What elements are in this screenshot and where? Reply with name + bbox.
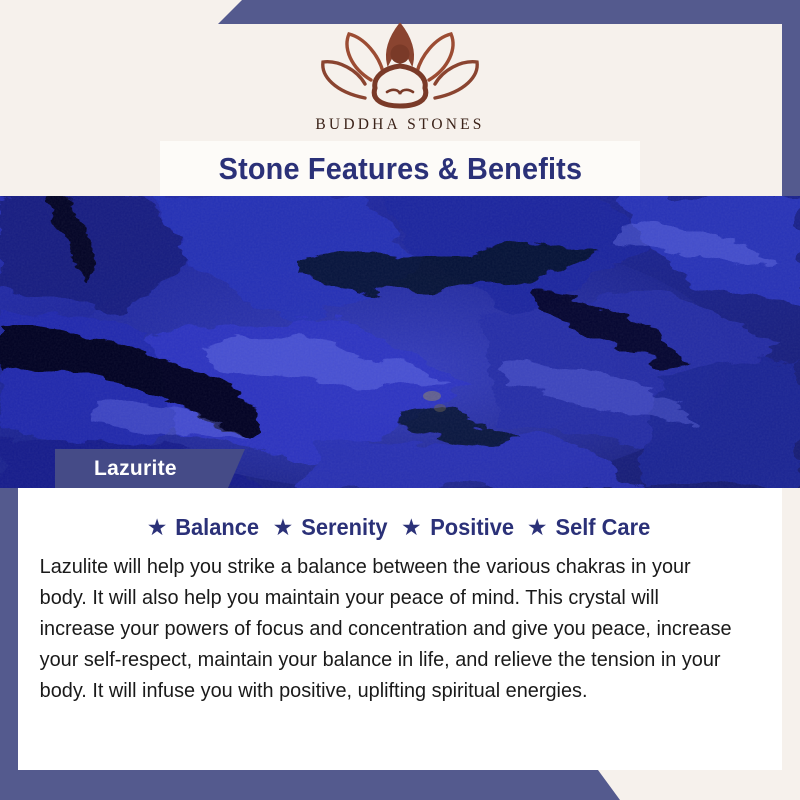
star-icon: ★ (401, 516, 422, 539)
poster-canvas: BUDDHA STONES Stone Features & Benefits (0, 0, 800, 800)
decor-left-strip (0, 488, 18, 773)
keyword-label: Positive (430, 514, 514, 541)
decor-bottom-band (0, 770, 620, 800)
lotus-meditation-icon (305, 18, 495, 110)
stone-name-band: Lazurite (55, 449, 245, 488)
keyword-list: ★ Balance ★ Serenity ★ Positive ★ Self C… (28, 514, 772, 541)
keyword-label: Balance (176, 514, 260, 541)
keyword-item: ★ Self Care (527, 514, 653, 541)
page-title: Stone Features & Benefits (218, 151, 582, 187)
stone-photo (0, 196, 800, 488)
keyword-item: ★ Serenity (273, 514, 390, 541)
stone-photo-texture (0, 196, 800, 488)
brand-name: BUDDHA STONES (315, 116, 484, 134)
brand-logo: BUDDHA STONES (0, 18, 800, 138)
keyword-item: ★ Balance (147, 514, 262, 541)
stone-description: Lazulite will help you strike a balance … (28, 551, 750, 706)
keyword-label: Self Care (556, 514, 651, 541)
stone-name-label: Lazurite (94, 457, 177, 481)
star-icon: ★ (147, 516, 168, 539)
content-card: ★ Balance ★ Serenity ★ Positive ★ Self C… (18, 488, 782, 770)
star-icon: ★ (273, 516, 294, 539)
title-banner: Stone Features & Benefits (160, 141, 640, 196)
keyword-label: Serenity (302, 514, 388, 541)
keyword-item: ★ Positive (401, 514, 516, 541)
star-icon: ★ (527, 516, 548, 539)
